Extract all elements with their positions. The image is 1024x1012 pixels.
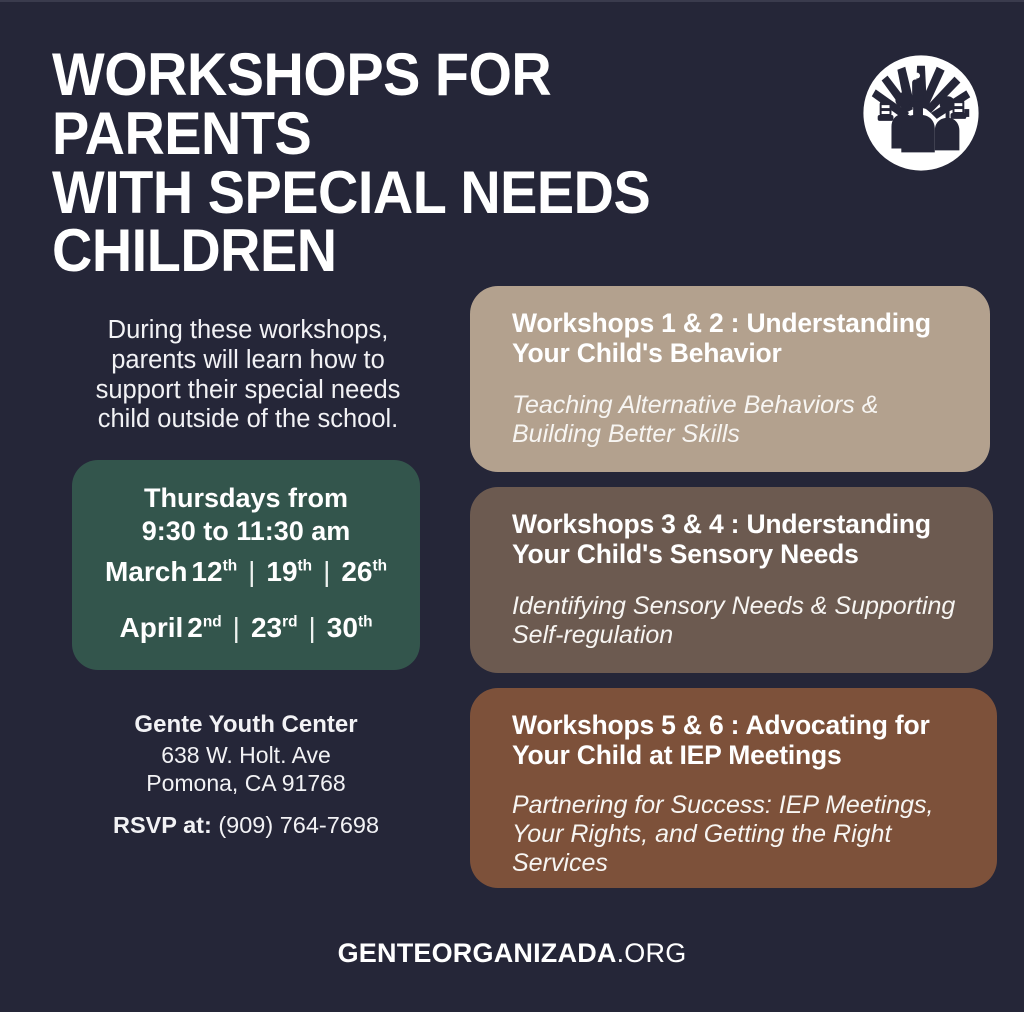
schedule-separator: | [241, 556, 262, 588]
workshop-card-1-subtitle: Teaching Alternative Behaviors & Buildin… [512, 391, 964, 449]
venue-street: 638 W. Holt. Ave [72, 741, 420, 769]
footer-website: GENTEORGANIZADA.ORG [0, 938, 1024, 969]
schedule-date-2: 19th [266, 556, 312, 588]
venue-city-state-zip: Pomona, CA 91768 [72, 769, 420, 797]
schedule-when: Thursdays from 9:30 to 11:30 am [142, 482, 351, 548]
rsvp-phone: (909) 764-7698 [218, 812, 379, 838]
schedule-separator: | [226, 612, 247, 644]
workshop-card-list: Workshops 1 & 2 : Understanding Your Chi… [470, 286, 997, 903]
schedule-month-march: March [105, 556, 187, 588]
schedule-date-6: 30th [327, 612, 373, 644]
footer-tld: .ORG [617, 938, 687, 968]
page-title: WORKSHOPS FOR PARENTS WITH SPECIAL NEEDS… [52, 46, 802, 281]
workshop-card-3: Workshops 5 & 6 : Advocating for Your Ch… [470, 688, 997, 888]
schedule-box: Thursdays from 9:30 to 11:30 am March 12… [72, 460, 420, 670]
schedule-row-april: April 2nd | 23rd | 30th [120, 612, 373, 644]
footer-brand: GENTEORGANIZADA [338, 938, 617, 968]
schedule-date-1: 12th [191, 556, 237, 588]
workshop-card-1-title: Workshops 1 & 2 : Understanding Your Chi… [512, 308, 964, 369]
workshop-card-3-subtitle: Partnering for Success: IEP Meetings, Yo… [512, 791, 971, 878]
workshop-card-1: Workshops 1 & 2 : Understanding Your Chi… [470, 286, 990, 472]
venue-name: Gente Youth Center [72, 710, 420, 739]
schedule-row-march: March 12th | 19th | 26th [105, 556, 387, 588]
schedule-date-rows: March 12th | 19th | 26th April 2nd | 23r… [86, 556, 406, 656]
gente-organizada-raised-fists-logo [858, 50, 984, 176]
schedule-separator: | [302, 612, 323, 644]
rsvp-label: RSVP at: [113, 812, 212, 838]
poster-header: WORKSHOPS FOR PARENTS WITH SPECIAL NEEDS… [52, 46, 996, 281]
schedule-month-april: April [120, 612, 184, 644]
schedule-separator: | [316, 556, 337, 588]
schedule-date-5: 23rd [251, 612, 298, 644]
workshop-card-2-title: Workshops 3 & 4 : Understanding Your Chi… [512, 509, 967, 570]
schedule-date-4: 2nd [187, 612, 221, 644]
workshop-card-2-subtitle: Identifying Sensory Needs & Supporting S… [512, 592, 967, 650]
flyer-poster: WORKSHOPS FOR PARENTS WITH SPECIAL NEEDS… [0, 0, 1024, 1012]
schedule-when-line-2: 9:30 to 11:30 am [142, 515, 351, 548]
schedule-when-line-1: Thursdays from [142, 482, 351, 515]
workshop-card-3-title: Workshops 5 & 6 : Advocating for Your Ch… [512, 710, 971, 771]
intro-paragraph: During these workshops, parents will lea… [72, 316, 424, 435]
venue-block: Gente Youth Center 638 W. Holt. Ave Pomo… [72, 710, 420, 797]
rsvp-block: RSVP at: (909) 764-7698 [72, 812, 420, 839]
workshop-card-2: Workshops 3 & 4 : Understanding Your Chi… [470, 487, 993, 673]
schedule-date-3: 26th [341, 556, 387, 588]
